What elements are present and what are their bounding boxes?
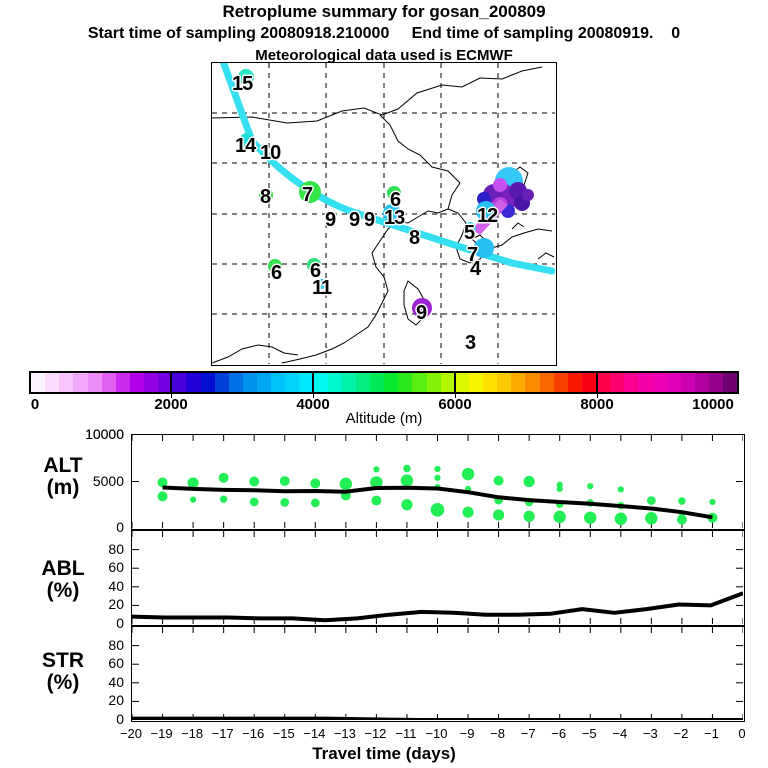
x-tick-label: −19 [151,726,173,741]
colorbar-swatch [554,373,568,392]
colorbar-swatch [31,373,45,392]
altitude-marker [645,512,657,524]
colorbar-swatch [610,373,624,392]
colorbar-swatch [455,373,469,392]
x-tick-label: −14 [303,726,325,741]
y-tick-label: 20 [62,692,124,708]
colorbar-swatch [497,373,511,392]
colorbar-swatch [384,373,398,392]
altitude-marker [494,476,504,486]
colorbar-swatch [201,373,215,392]
colorbar-separator [312,371,314,394]
x-tick-label: −13 [334,726,356,741]
colorbar-swatch [144,373,158,392]
altitude-marker [371,496,381,506]
colorbar-swatch [540,373,554,392]
map-day-label: 13 [384,208,404,228]
map-day-label: 8 [409,228,419,248]
altitude-marker [677,515,687,525]
plume-marker [493,178,507,192]
colorbar-swatch [342,373,356,392]
altitude-marker [401,474,413,486]
altitude-marker [584,512,596,524]
x-tick-label: −15 [273,726,295,741]
colorbar-swatch [681,373,695,392]
y-tick-label: 0 [62,519,124,535]
altitude-marker [220,495,227,502]
colorbar-swatch [257,373,271,392]
x-tick-label: −11 [395,726,416,741]
colorbar-swatch [285,373,299,392]
altitude-marker [340,478,352,490]
map-day-label: 4 [470,259,480,279]
y-tick-label: 0 [62,711,124,727]
altitude-marker [280,476,290,486]
altitude-marker [403,465,410,472]
map-day-label: 11 [312,278,331,298]
colorbar-swatch [398,373,412,392]
altitude-marker [462,468,474,480]
x-tick-label: −5 [582,726,597,741]
x-axis-tick-labels: −20−19−18−17−16−15−14−13−12−11−10−9−8−7−… [0,726,768,744]
map-day-label: 6 [390,190,400,210]
colorbar-swatch [271,373,285,392]
colorbar-swatch [186,373,200,392]
map-day-label: 12 [477,206,497,226]
colorbar-swatch [229,373,243,392]
altitude-marker [557,486,563,492]
x-tick-label: −10 [425,726,447,741]
colorbar-swatch [370,373,384,392]
altitude-marker [311,499,320,508]
trajectory-path [220,63,552,271]
colorbar-swatch [88,373,102,392]
map-day-label: 14 [235,136,255,156]
altitude-marker [190,497,196,503]
altitude-marker [554,511,566,523]
altitude-marker [250,498,259,507]
y-tick-label: 60 [62,559,124,575]
trend-line [132,719,743,720]
altitude-marker [618,486,624,492]
x-tick-label: −17 [212,726,234,741]
y-tick-label: 40 [62,578,124,594]
colorbar-swatch [412,373,426,392]
altitude-marker [431,503,445,517]
x-tick-label: −3 [643,726,658,741]
map-day-label: 6 [271,263,281,283]
colorbar-swatch [667,373,681,392]
altitude-marker [280,498,289,507]
altitude-marker [373,466,379,472]
altitude-marker [615,513,627,525]
trend-line [132,593,743,620]
x-tick-label: −4 [612,726,627,741]
x-tick-label: 0 [738,726,745,741]
altitude-marker [158,491,168,501]
x-tick-label: −2 [673,726,688,741]
colorbar-swatch [314,373,328,392]
colorbar-swatch [525,373,539,392]
altitude-marker [434,466,440,472]
y-tick-label: 20 [62,596,124,612]
colorbar-swatch [709,373,723,392]
x-tick-label: −20 [120,726,142,741]
map-day-label: 8 [260,187,270,207]
altitude-marker [493,509,504,520]
map-day-label: 9 [416,303,426,323]
colorbar-swatch [695,373,709,392]
colorbar-swatch [116,373,130,392]
y-tick-label: 80 [62,637,124,653]
y-tick-label: 60 [62,655,124,671]
x-tick-label: −8 [490,726,505,741]
x-tick-label: −7 [521,726,536,741]
x-tick-label: −6 [551,726,566,741]
altitude-marker [587,483,593,489]
x-tick-label: −18 [181,726,203,741]
y-tick-label: 5000 [62,473,124,489]
y-tick-label: 40 [62,674,124,690]
map-day-label: 10 [260,143,280,163]
colorbar-separator [454,371,456,394]
alt-chart[interactable] [131,434,745,530]
colorbar-swatch [653,373,667,392]
map-day-label: 9 [325,210,335,230]
colorbar-swatch [243,373,257,392]
colorbar-swatch [102,373,116,392]
colorbar-swatch [215,373,229,392]
map-day-label: 7 [302,185,312,205]
colorbar-swatch [130,373,144,392]
altitude-marker [524,511,535,522]
x-tick-label: −1 [704,726,719,741]
map-day-label: 9 [349,210,359,230]
colorbar-swatch [511,373,525,392]
colorbar-swatch [483,373,497,392]
colorbar-swatch [172,373,186,392]
altitude-marker [219,473,229,483]
page-title: Retroplume summary for gosan_200809 [0,2,768,22]
x-axis-title: Travel time (days) [0,744,768,764]
colorbar-separator [596,371,598,394]
altitude-marker [401,499,412,510]
y-tick-label: 80 [62,541,124,557]
colorbar-swatch [328,373,342,392]
colorbar-swatch [73,373,87,392]
colorbar-swatch [568,373,582,392]
retroplume-map[interactable]: 15141087999136812574661191810345 [211,62,557,366]
colorbar-swatch [45,373,59,392]
altitude-marker [678,497,685,504]
y-tick-label: 0 [62,615,124,631]
colorbar-swatch [469,373,483,392]
colorbar-swatch [59,373,73,392]
altitude-marker [310,478,320,488]
colorbar-swatch [441,373,455,392]
altitude-colorbar [29,371,739,394]
altitude-marker [647,496,656,505]
colorbar-swatch [624,373,638,392]
colorbar-swatch [596,373,610,392]
colorbar-swatch [638,373,652,392]
x-tick-label: −16 [242,726,264,741]
map-day-label: 3 [465,333,475,353]
colorbar-swatch [723,373,737,392]
altitude-marker [434,475,440,481]
str-chart[interactable] [131,626,745,722]
y-tick-label: 10000 [62,426,124,442]
map-day-label: 5 [464,223,474,243]
sampling-time-subtitle: Start time of sampling 20080918.210000 E… [0,25,768,43]
x-tick-label: −12 [364,726,386,741]
colorbar-separator [170,371,172,394]
map-day-label: 9 [364,210,374,230]
x-tick-label: −9 [460,726,475,741]
plume-marker [522,189,534,201]
altitude-marker [709,499,715,505]
colorbar-title: Altitude (m) [0,410,768,427]
altitude-marker [462,507,473,518]
abl-chart[interactable] [131,530,745,626]
colorbar-swatch [356,373,370,392]
map-day-label: 15 [232,74,252,94]
colorbar-swatch [582,373,596,392]
altitude-marker [249,477,259,487]
altitude-marker [524,476,535,487]
colorbar-swatch [427,373,441,392]
